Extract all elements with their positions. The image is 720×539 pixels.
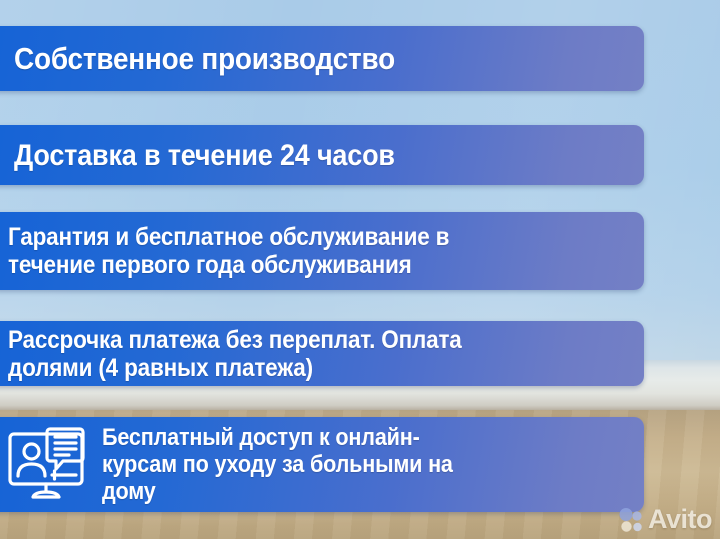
feature-banner-text: Бесплатный доступ к онлайн- курсам по ух… — [102, 424, 453, 505]
monitor-online-course-icon — [2, 425, 94, 505]
feature-banner-text: Гарантия и бесплатное обслуживание в теч… — [8, 223, 449, 279]
feature-banner-text: Рассрочка платежа без переплат. Оплата д… — [8, 326, 462, 382]
feature-banner-own-production: Собственное производство — [0, 26, 644, 91]
feature-banner-text: Собственное производство — [14, 42, 395, 76]
feature-banner-delivery-24h: Доставка в течение 24 часов — [0, 125, 644, 185]
feature-banner-installment-payment: Рассрочка платежа без переплат. Оплата д… — [0, 321, 644, 386]
avito-watermark: Avito — [618, 506, 712, 533]
feature-banner-free-online-courses: Бесплатный доступ к онлайн- курсам по ух… — [0, 417, 644, 512]
feature-banner-text: Доставка в течение 24 часов — [14, 139, 395, 172]
avito-wordmark: Avito — [648, 506, 712, 533]
promo-image: Собственное производство Доставка в тече… — [0, 0, 720, 539]
feature-banner-warranty-first-year: Гарантия и бесплатное обслуживание в теч… — [0, 212, 644, 290]
avito-dots-icon — [618, 507, 644, 533]
